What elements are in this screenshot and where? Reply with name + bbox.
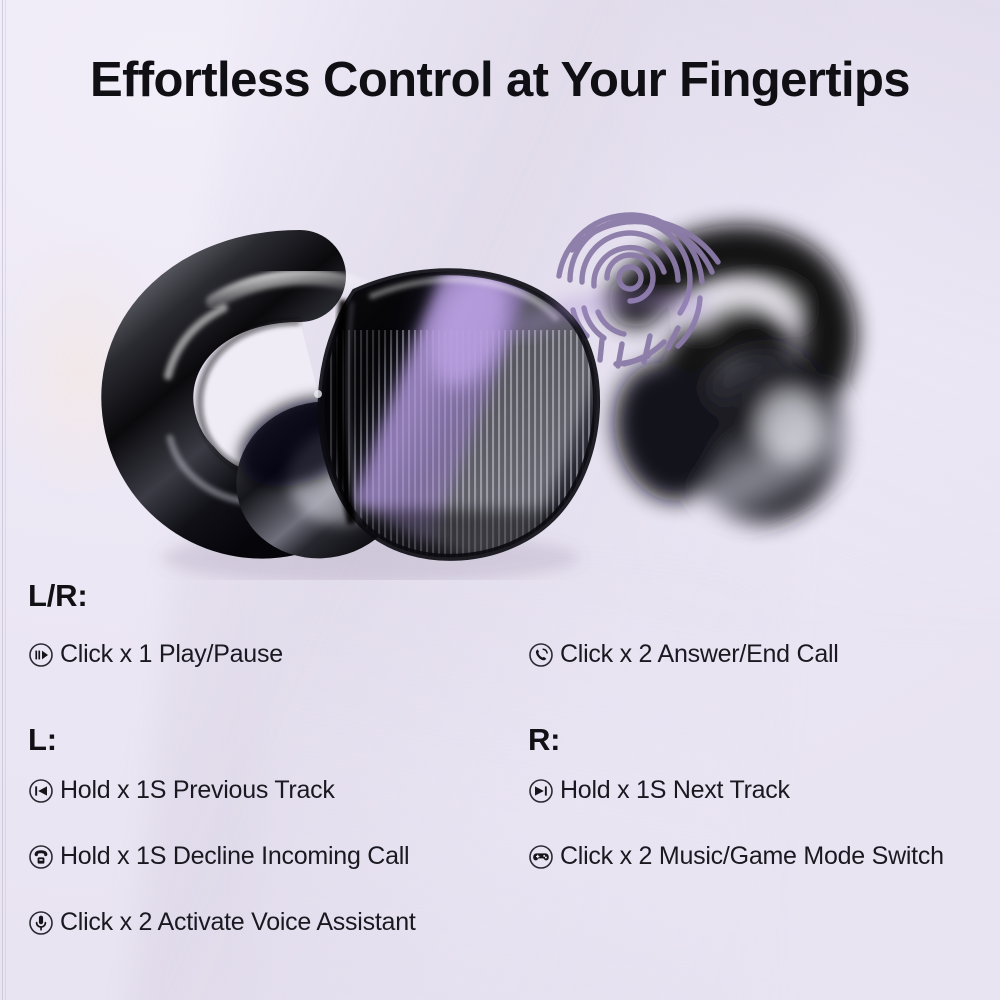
control-row-previous-track: Hold x 1S Previous Track — [28, 776, 335, 805]
control-row-label: Click x 1 Play/Pause — [60, 640, 283, 669]
control-row-label: Hold x 1S Previous Track — [60, 776, 335, 805]
phone-call-icon — [528, 642, 554, 668]
play-pause-icon — [28, 642, 54, 668]
previous-track-icon — [28, 778, 54, 804]
microphone-icon — [28, 910, 54, 936]
control-instructions: L/R: Click x 1 Play/Pause L: Hold x 1S P… — [0, 566, 1000, 1000]
hero-product-illustration — [0, 180, 1000, 580]
group-heading-right: R: — [528, 722, 560, 758]
decline-call-icon — [28, 844, 54, 870]
control-row-label: Click x 2 Answer/End Call — [560, 640, 839, 669]
product-feature-image: Effortless Control at Your Fingertips — [0, 0, 1000, 1000]
control-row-answer-end-call: Click x 2 Answer/End Call — [528, 640, 839, 669]
group-heading-lr: L/R: — [28, 578, 87, 614]
control-row-decline-call: Hold x 1S Decline Incoming Call — [28, 842, 409, 871]
control-row-label: Click x 2 Music/Game Mode Switch — [560, 842, 944, 871]
control-row-label: Click x 2 Activate Voice Assistant — [60, 908, 416, 937]
next-track-icon — [528, 778, 554, 804]
control-row-music-game-mode: Click x 2 Music/Game Mode Switch — [528, 842, 944, 871]
control-row-voice-assistant: Click x 2 Activate Voice Assistant — [28, 908, 416, 937]
control-row-play-pause: Click x 1 Play/Pause — [28, 640, 283, 669]
primary-earbud — [147, 240, 630, 580]
group-heading-left: L: — [28, 722, 57, 758]
control-row-next-track: Hold x 1S Next Track — [528, 776, 790, 805]
control-row-label: Hold x 1S Next Track — [560, 776, 790, 805]
control-row-label: Hold x 1S Decline Incoming Call — [60, 842, 409, 871]
gamepad-icon — [528, 844, 554, 870]
page-title: Effortless Control at Your Fingertips — [0, 48, 1000, 113]
